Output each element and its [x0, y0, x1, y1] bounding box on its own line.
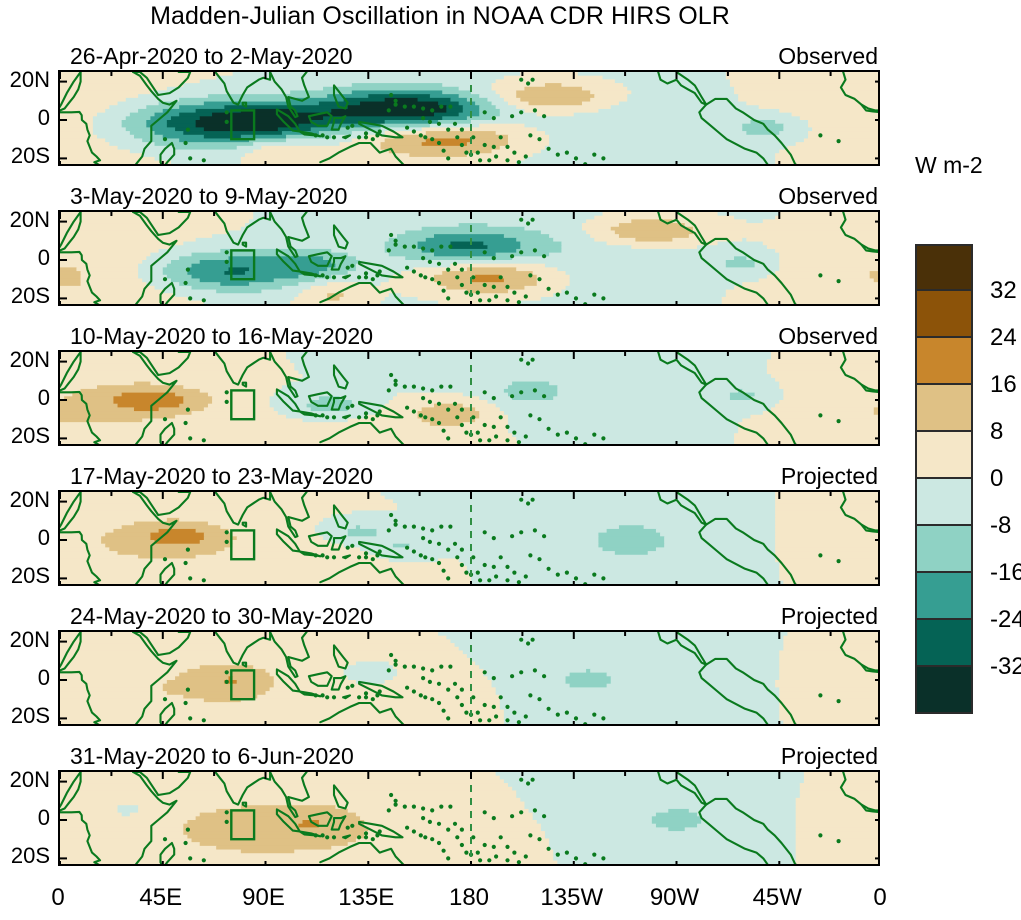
colorbar-band-1[interactable]: [915, 291, 973, 338]
y-axis-label: 0: [38, 105, 50, 131]
y-axis-label: 20S: [11, 283, 50, 309]
panel-status-label: Projected: [781, 743, 878, 770]
colorbar-tick-label: 24: [990, 324, 1017, 352]
y-axis-label: 0: [38, 805, 50, 831]
map-canvas-4: [58, 490, 880, 586]
x-axis-tick-label: 90W: [650, 884, 699, 912]
colorbar-tick-label: 16: [990, 371, 1017, 399]
y-axis-label: 20S: [11, 143, 50, 169]
x-axis-tick-label: 180: [449, 884, 489, 912]
panel-date-range: 17-May-2020 to 23-May-2020: [70, 463, 373, 490]
colorbar-band-6[interactable]: [915, 526, 973, 573]
panel-status-label: Observed: [778, 323, 878, 350]
y-axis-label: 20N: [10, 347, 50, 373]
x-axis-tick-label: 45E: [139, 884, 182, 912]
x-axis-tick-label: 45W: [753, 884, 802, 912]
page-title: Madden-Julian Oscillation in NOAA CDR HI…: [0, 2, 880, 31]
map-canvas-3: [58, 350, 880, 446]
map-canvas-5: [58, 630, 880, 726]
panel-header-5: 24-May-2020 to 30-May-2020Projected: [58, 603, 880, 629]
panel-header-4: 17-May-2020 to 23-May-2020Projected: [58, 463, 880, 489]
panel-status-label: Projected: [781, 463, 878, 490]
panel-header-1: 26-Apr-2020 to 2-May-2020Observed: [58, 43, 880, 69]
panel-header-3: 10-May-2020 to 16-May-2020Observed: [58, 323, 880, 349]
y-axis-label: 0: [38, 245, 50, 271]
colorbar-band-0[interactable]: [915, 244, 973, 291]
colorbar-band-3[interactable]: [915, 385, 973, 432]
colorbar-band-8[interactable]: [915, 620, 973, 667]
y-axis-label: 0: [38, 525, 50, 551]
y-axis-label: 20N: [10, 767, 50, 793]
colorbar-band-2[interactable]: [915, 338, 973, 385]
map-canvas-6: [58, 770, 880, 866]
panel-date-range: 31-May-2020 to 6-Jun-2020: [70, 743, 354, 770]
colorbar-tick-label: -16: [990, 559, 1021, 587]
y-axis-label: 20N: [10, 627, 50, 653]
map-panel-2: 3-May-2020 to 9-May-2020Observed20N020S: [58, 210, 880, 306]
colorbar-unit-label: W m-2: [915, 152, 1021, 179]
colorbar-tick-label: -24: [990, 606, 1021, 634]
colorbar-tick-label: 32: [990, 277, 1017, 305]
y-axis-label: 20N: [10, 207, 50, 233]
colorbar[interactable]: 32241680-8-16-24-32: [915, 244, 973, 714]
panel-header-2: 3-May-2020 to 9-May-2020Observed: [58, 183, 880, 209]
map-panel-5: 24-May-2020 to 30-May-2020Projected20N02…: [58, 630, 880, 726]
colorbar-band-7[interactable]: [915, 573, 973, 620]
x-axis-tick-label: 135W: [540, 884, 603, 912]
y-axis-label: 20S: [11, 703, 50, 729]
panel-header-6: 31-May-2020 to 6-Jun-2020Projected: [58, 743, 880, 769]
map-canvas-2: [58, 210, 880, 306]
y-axis-label: 20N: [10, 487, 50, 513]
colorbar-tick-label: -32: [990, 653, 1021, 681]
y-axis-label: 0: [38, 385, 50, 411]
panel-date-range: 24-May-2020 to 30-May-2020: [70, 603, 373, 630]
map-panel-1: 26-Apr-2020 to 2-May-2020Observed20N020S: [58, 70, 880, 166]
panel-date-range: 10-May-2020 to 16-May-2020: [70, 323, 373, 350]
y-axis-label: 0: [38, 665, 50, 691]
map-panel-6: 31-May-2020 to 6-Jun-2020Projected20N020…: [58, 770, 880, 866]
x-axis-tick-label: 135E: [338, 884, 394, 912]
panel-status-label: Projected: [781, 603, 878, 630]
y-axis-label: 20S: [11, 563, 50, 589]
colorbar-band-5[interactable]: [915, 479, 973, 526]
panel-status-label: Observed: [778, 43, 878, 70]
map-canvas-1: [58, 70, 880, 166]
panel-date-range: 26-Apr-2020 to 2-May-2020: [70, 43, 353, 70]
x-axis-tick-label: 0: [873, 884, 886, 912]
y-axis-label: 20N: [10, 67, 50, 93]
panel-status-label: Observed: [778, 183, 878, 210]
y-axis-label: 20S: [11, 843, 50, 869]
x-axis-tick-label: 0: [51, 884, 64, 912]
x-axis-tick-label: 90E: [242, 884, 285, 912]
colorbar-tick-label: 8: [990, 418, 1003, 446]
map-panel-3: 10-May-2020 to 16-May-2020Observed20N020…: [58, 350, 880, 446]
colorbar-band-4[interactable]: [915, 432, 973, 479]
colorbar-tick-label: 0: [990, 465, 1003, 493]
y-axis-label: 20S: [11, 423, 50, 449]
x-axis: 045E90E135E180135W90W45W0: [58, 884, 880, 914]
colorbar-tick-label: -8: [990, 512, 1011, 540]
panel-date-range: 3-May-2020 to 9-May-2020: [70, 183, 347, 210]
colorbar-band-9[interactable]: [915, 667, 973, 714]
map-panel-4: 17-May-2020 to 23-May-2020Projected20N02…: [58, 490, 880, 586]
